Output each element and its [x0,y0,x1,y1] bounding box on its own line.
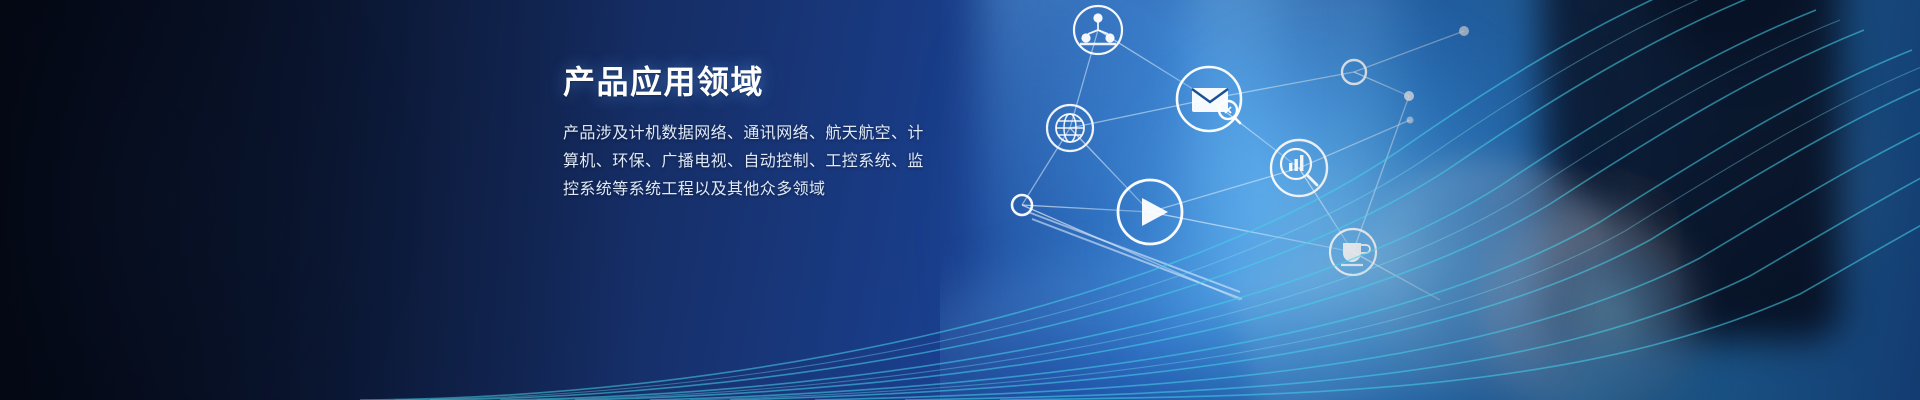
description-line: 产品涉及计机数据网络、通讯网络、航天航空、计 [563,120,963,148]
banner-description: 产品涉及计机数据网络、通讯网络、航天航空、计 算机、环保、广播电视、自动控制、工… [563,120,963,204]
description-line: 算机、环保、广播电视、自动控制、工控系统、监 [563,148,963,176]
description-line: 控系统等系统工程以及其他众多领域 [563,176,963,204]
banner-text-block: 产品应用领域 产品涉及计机数据网络、通讯网络、航天航空、计 算机、环保、广播电视… [563,62,983,204]
product-application-banner: 产品应用领域 产品涉及计机数据网络、通讯网络、航天航空、计 算机、环保、广播电视… [0,0,1920,400]
page-title: 产品应用领域 [563,62,983,102]
